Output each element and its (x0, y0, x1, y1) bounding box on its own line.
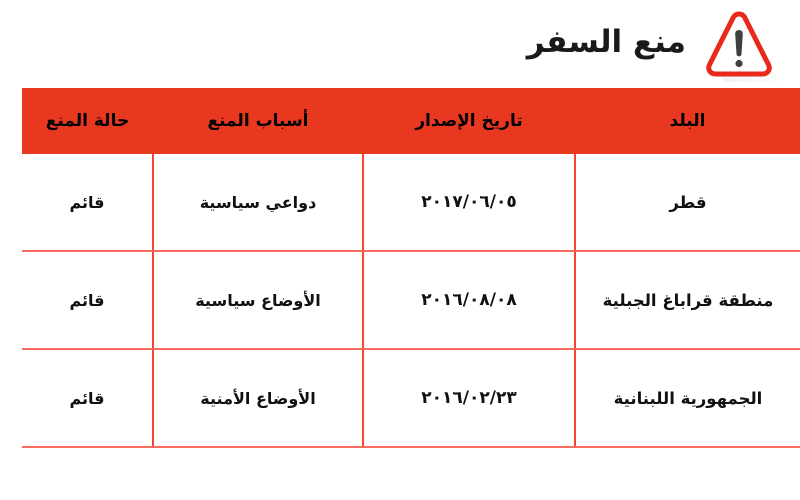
cell-country: الجمهورية اللبنانية (575, 349, 800, 447)
cell-issue-date: ٢٠١٦/٠٨/٠٨ (363, 251, 575, 349)
cell-reason: دواعي سياسية (153, 154, 363, 251)
column-header-country[interactable]: البلد (575, 88, 800, 154)
cell-reason: الأوضاع الأمنية (153, 349, 363, 447)
cell-status: قائم (22, 349, 153, 447)
warning-triangle-icon (700, 8, 778, 82)
table-row: الجمهورية اللبنانية ٢٠١٦/٠٢/٢٣ الأوضاع ا… (22, 349, 800, 447)
table-row: قطر ٢٠١٧/٠٦/٠٥ دواعي سياسية قائم (22, 154, 800, 251)
page-title: منع السفر (527, 27, 686, 62)
column-header-reason[interactable]: أسباب المنع (153, 88, 363, 154)
table-row: منطقة قراباغ الجبلية ٢٠١٦/٠٨/٠٨ الأوضاع … (22, 251, 800, 349)
column-header-issue-date[interactable]: تاريخ الإصدار (363, 88, 575, 154)
page-header: منع السفر (0, 0, 800, 88)
cell-issue-date: ٢٠١٧/٠٦/٠٥ (363, 154, 575, 251)
cell-country: قطر (575, 154, 800, 251)
cell-issue-date: ٢٠١٦/٠٢/٢٣ (363, 349, 575, 447)
travel-ban-page: منع السفر البلد تاريخ الإصدار أسباب المن… (0, 0, 800, 500)
cell-status: قائم (22, 251, 153, 349)
table-header-row: البلد تاريخ الإصدار أسباب المنع حالة الم… (22, 88, 800, 154)
cell-country: منطقة قراباغ الجبلية (575, 251, 800, 349)
cell-reason: الأوضاع سياسية (153, 251, 363, 349)
column-header-status[interactable]: حالة المنع (22, 88, 153, 154)
travel-ban-table: البلد تاريخ الإصدار أسباب المنع حالة الم… (22, 88, 800, 448)
cell-status: قائم (22, 154, 153, 251)
